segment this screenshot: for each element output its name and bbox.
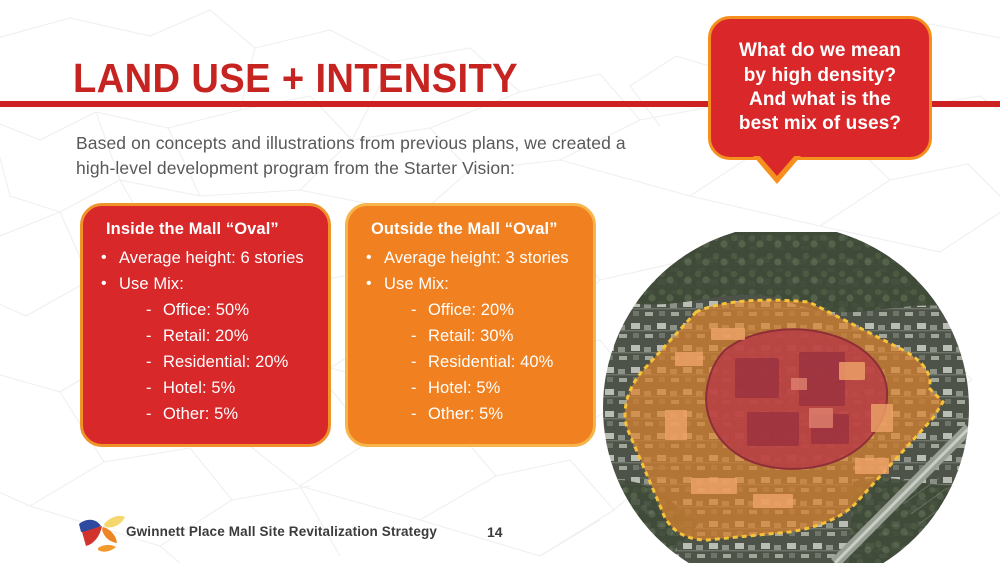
sub-dash: - xyxy=(146,323,163,349)
use-mix-label: Hotel: 5% xyxy=(428,375,500,401)
use-mix-label: Residential: 20% xyxy=(163,349,288,375)
intro-line-1: Based on concepts and illustrations from… xyxy=(76,131,656,156)
bullet-label: Use Mix: xyxy=(119,271,184,297)
sub-dash: - xyxy=(146,349,163,375)
callout-tail-inner xyxy=(757,153,797,176)
use-mix-label: Other: 5% xyxy=(428,401,503,427)
page-title: LAND USE + INTENSITY xyxy=(73,58,518,99)
card-outside-mall-oval: Outside the Mall “Oval” • Average height… xyxy=(345,203,596,447)
use-mix-label: Residential: 40% xyxy=(428,349,553,375)
card-title: Inside the Mall “Oval” xyxy=(106,220,312,239)
use-mix-item: - Hotel: 5% xyxy=(146,375,312,401)
callout-line-2: by high density? xyxy=(739,64,901,88)
question-callout-text: What do we mean by high density? And wha… xyxy=(727,39,913,136)
bullet-label: Average height: 6 stories xyxy=(119,245,304,271)
page-number: 14 xyxy=(487,524,503,540)
use-mix-label: Office: 50% xyxy=(163,297,249,323)
use-mix-label: Retail: 30% xyxy=(428,323,513,349)
sub-dash: - xyxy=(411,375,428,401)
use-mix-list: - Office: 20% - Retail: 30% - Residentia… xyxy=(366,297,577,427)
use-mix-label: Other: 5% xyxy=(163,401,238,427)
footer-title: Gwinnett Place Mall Site Revitalization … xyxy=(126,524,437,539)
use-mix-label: Retail: 20% xyxy=(163,323,248,349)
sub-dash: - xyxy=(146,297,163,323)
question-callout-bubble: What do we mean by high density? And wha… xyxy=(708,16,932,160)
bullet-dot: • xyxy=(101,245,119,271)
card-bullet-list: • Average height: 3 stories • Use Mix: xyxy=(366,245,577,297)
intro-line-2: high-level development program from the … xyxy=(76,156,656,181)
bullet-label: Average height: 3 stories xyxy=(384,245,569,271)
sub-dash: - xyxy=(146,401,163,427)
intro-paragraph: Based on concepts and illustrations from… xyxy=(76,131,656,181)
bullet-label: Use Mix: xyxy=(384,271,449,297)
use-mix-list: - Office: 50% - Retail: 20% - Residentia… xyxy=(101,297,312,427)
sub-dash: - xyxy=(411,297,428,323)
use-mix-item: - Hotel: 5% xyxy=(411,375,577,401)
sub-dash: - xyxy=(411,323,428,349)
aerial-site-photo xyxy=(603,232,969,563)
use-mix-item: - Residential: 40% xyxy=(411,349,577,375)
bullet-dot: • xyxy=(366,245,384,271)
use-mix-item: - Retail: 20% xyxy=(146,323,312,349)
callout-line-3: And what is the xyxy=(739,88,901,112)
inner-zone-overlay xyxy=(706,329,887,468)
use-mix-item: - Office: 20% xyxy=(411,297,577,323)
bullet-dot: • xyxy=(366,271,384,297)
bullet-dot: • xyxy=(101,271,119,297)
bullet-item: • Average height: 3 stories xyxy=(366,245,577,271)
bullet-item: • Use Mix: xyxy=(101,271,312,297)
card-bullet-list: • Average height: 6 stories • Use Mix: xyxy=(101,245,312,297)
card-title: Outside the Mall “Oval” xyxy=(371,220,577,239)
sub-dash: - xyxy=(411,401,428,427)
use-mix-item: - Other: 5% xyxy=(146,401,312,427)
use-mix-label: Hotel: 5% xyxy=(163,375,235,401)
page-title-wrap: LAND USE + INTENSITY xyxy=(73,58,551,99)
use-mix-item: - Other: 5% xyxy=(411,401,577,427)
use-mix-item: - Residential: 20% xyxy=(146,349,312,375)
sub-dash: - xyxy=(411,349,428,375)
bullet-item: • Average height: 6 stories xyxy=(101,245,312,271)
bullet-item: • Use Mix: xyxy=(366,271,577,297)
use-mix-item: - Office: 50% xyxy=(146,297,312,323)
use-mix-item: - Retail: 30% xyxy=(411,323,577,349)
organization-logo xyxy=(76,508,126,554)
use-mix-label: Office: 20% xyxy=(428,297,514,323)
sub-dash: - xyxy=(146,375,163,401)
slide-canvas: LAND USE + INTENSITY Based on concepts a… xyxy=(0,0,1000,563)
card-inside-mall-oval: Inside the Mall “Oval” • Average height:… xyxy=(80,203,331,447)
callout-line-1: What do we mean xyxy=(739,39,901,63)
callout-line-4: best mix of uses? xyxy=(739,112,901,136)
